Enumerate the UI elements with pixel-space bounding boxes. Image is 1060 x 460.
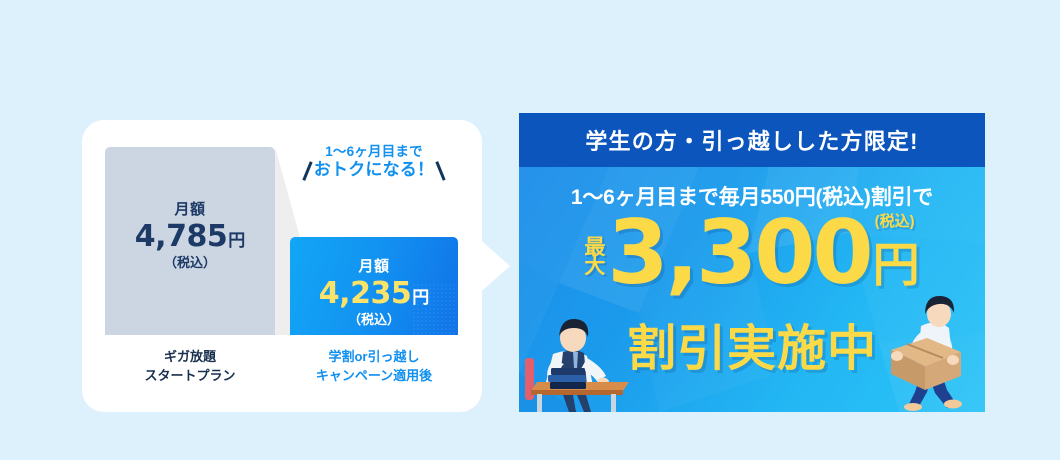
savings-callout-line2: おトクになる！	[314, 160, 434, 181]
slash-right-icon	[436, 161, 446, 180]
base-plan-price-line: 4,785円	[105, 221, 275, 253]
discount-plan-price-block: 月額 4,235円 （税込）	[290, 259, 458, 327]
discount-plan-yen-unit: 円	[412, 288, 429, 307]
discount-plan-caption-line1: 学割or引っ越し	[290, 348, 458, 367]
promo-price-row: 最 大 3,300 (税込) 円	[519, 215, 985, 291]
promo-yen-block: (税込) 円	[873, 244, 920, 286]
promo-banner[interactable]: 学生の方・引っ越しした方限定! 1〜6ヶ月目まで毎月550円(税込)割引で 最 …	[519, 113, 985, 412]
promo-discount-amount: 3,300	[607, 215, 870, 291]
discount-plan-caption: 学割or引っ越し キャンペーン適用後	[290, 348, 458, 386]
discount-plan-caption-line2: キャンペーン適用後	[290, 367, 458, 386]
promo-header-title: 学生の方・引っ越しした方限定!	[585, 124, 918, 156]
arrow-right-icon	[476, 236, 510, 296]
price-comparison-card: 月額 4,785円 （税込） 月額 4,235円 （税込） 1〜6ヶ月目まで お…	[82, 120, 482, 412]
promo-tax-note: (税込)	[875, 210, 915, 231]
base-plan-monthly-label: 月額	[105, 202, 275, 218]
slash-left-icon	[303, 161, 313, 180]
student-at-desk-icon	[523, 302, 635, 412]
base-plan-caption-line2: スタートプラン	[105, 367, 275, 386]
base-plan-yen-unit: 円	[228, 231, 245, 250]
savings-callout: 1〜6ヶ月目まで おトクになる！	[278, 144, 470, 181]
discount-plan-monthly-label: 月額	[290, 259, 458, 275]
base-plan-caption: ギガ放題 スタートプラン	[105, 348, 275, 386]
discount-plan-price-line: 4,235円	[290, 278, 458, 310]
base-plan-caption-line1: ギガ放題	[105, 348, 275, 367]
discount-plan-price-value: 4,235	[319, 276, 411, 311]
savings-callout-line1: 1〜6ヶ月目まで	[278, 144, 470, 160]
promo-maximum-char2: 大	[584, 257, 605, 276]
base-plan-price-value: 4,785	[135, 219, 227, 254]
promo-header-bar: 学生の方・引っ越しした方限定!	[519, 113, 985, 167]
base-plan-price-block: 月額 4,785円 （税込）	[105, 202, 275, 270]
discount-plan-tax-note: （税込）	[290, 313, 458, 327]
savings-callout-row: おトクになる！	[278, 160, 470, 181]
promo-yen-unit: 円	[873, 244, 920, 286]
person-carrying-box-icon	[887, 294, 983, 412]
base-plan-tax-note: （税込）	[105, 256, 275, 270]
promo-maximum-label: 最 大	[584, 238, 605, 277]
